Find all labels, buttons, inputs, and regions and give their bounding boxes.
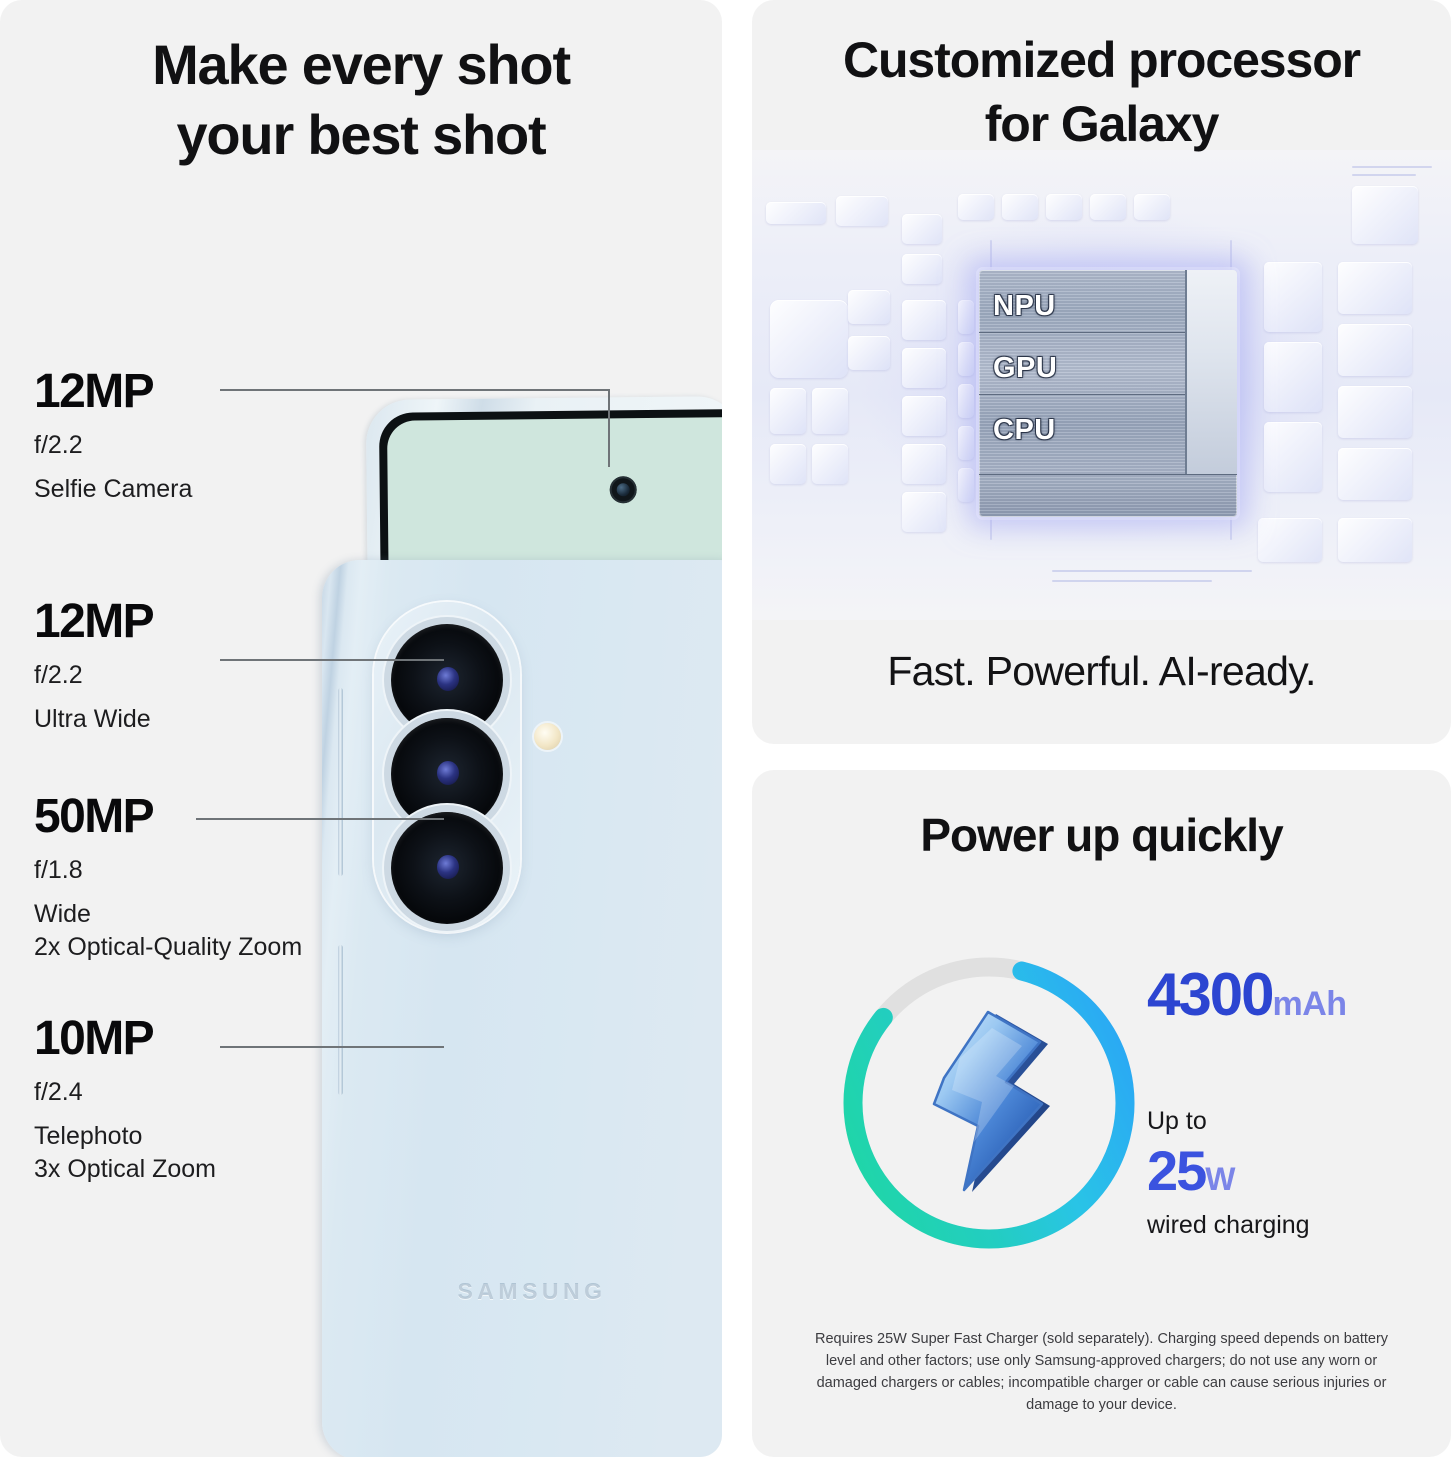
circuit-component-icon: [770, 300, 848, 378]
charging-disclaimer: Requires 25W Super Fast Charger (sold se…: [814, 1328, 1389, 1416]
battery-capacity: 4300mAh: [1147, 960, 1437, 1029]
spec-aperture: f/1.8: [34, 855, 302, 886]
spec-megapixels: 12MP: [34, 368, 192, 416]
wattage-value: 25: [1147, 1139, 1205, 1202]
circuit-component-icon: [902, 492, 946, 532]
circuit-pin-icon: [958, 426, 974, 460]
circuit-component-icon: [902, 214, 942, 244]
die-column-block: [1185, 270, 1237, 474]
circuit-pin-icon: [958, 384, 974, 418]
rear-camera-module: [374, 602, 520, 932]
camera-title-line2: your best shot: [0, 100, 722, 170]
circuit-pin-icon: [958, 300, 974, 334]
charging-wattage: 25W: [1147, 1138, 1437, 1203]
led-flash-icon: [534, 723, 561, 750]
processor-tagline: Fast. Powerful. AI-ready.: [752, 648, 1451, 695]
charge-ring-graphic: [834, 948, 1144, 1258]
die-label-gpu: GPU: [993, 352, 1057, 385]
circuit-pin-icon: [958, 468, 974, 502]
wattage-unit: W: [1205, 1161, 1235, 1197]
circuit-component-icon: [1090, 194, 1126, 220]
circuit-component-icon: [1338, 262, 1412, 314]
spec-selfie-camera: 12MP f/2.2 Selfie Camera: [34, 368, 192, 506]
circuit-component-icon: [812, 388, 848, 434]
die-divider: [979, 332, 1185, 333]
circuit-component-icon: [1264, 342, 1322, 412]
circuit-component-icon: [1264, 262, 1322, 332]
circuit-trace: [1052, 580, 1212, 582]
circuit-trace: [1352, 166, 1432, 168]
circuit-component-icon: [1002, 194, 1038, 220]
spec-megapixels: 12MP: [34, 598, 153, 646]
circuit-component-icon: [848, 290, 890, 324]
processor-panel: Customized processor for Galaxy: [752, 0, 1451, 744]
circuit-component-icon: [1338, 324, 1412, 376]
circuit-component-icon: [902, 396, 946, 436]
battery-capacity-value: 4300: [1147, 961, 1272, 1028]
spec-description: Telephoto 3x Optical Zoom: [34, 1120, 216, 1186]
charging-type-label: wired charging: [1147, 1211, 1437, 1240]
samsung-logo: SAMSUNG: [322, 1278, 722, 1305]
spec-description: Selfie Camera: [34, 473, 192, 506]
processor-title-line1: Customized processor: [752, 28, 1451, 92]
leader-line-ultrawide-h: [220, 659, 444, 661]
spec-description: Wide 2x Optical-Quality Zoom: [34, 898, 302, 964]
battery-stats: 4300mAh Up to 25W wired charging: [1147, 960, 1437, 1240]
circuit-component-icon: [958, 194, 994, 220]
spec-aperture: f/2.4: [34, 1077, 216, 1108]
up-to-label: Up to: [1147, 1107, 1437, 1136]
circuit-component-icon: [1264, 422, 1322, 492]
circuit-component-icon: [770, 444, 806, 484]
die-divider: [979, 474, 1237, 475]
circuit-component-icon: [812, 444, 848, 484]
telephoto-lens-icon: [391, 812, 503, 924]
spec-megapixels: 50MP: [34, 793, 302, 841]
circuit-component-icon: [902, 300, 946, 340]
circuit-component-icon: [902, 254, 942, 284]
spec-aperture: f/2.2: [34, 430, 192, 461]
leader-line-telephoto-h: [220, 1046, 444, 1048]
spec-description-line2: 3x Optical Zoom: [34, 1153, 216, 1186]
processor-title-line2: for Galaxy: [752, 92, 1451, 156]
spec-description-line1: Telephoto: [34, 1120, 216, 1153]
spec-description-line2: 2x Optical-Quality Zoom: [34, 931, 302, 964]
spec-description-line1: Wide: [34, 898, 302, 931]
battery-capacity-unit: mAh: [1272, 985, 1346, 1023]
circuit-trace: [1052, 570, 1252, 572]
circuit-component-icon: [1338, 448, 1412, 500]
circuit-component-icon: [766, 202, 826, 224]
product-feature-sheet: Make every shot your best shot: [0, 0, 1451, 1457]
spec-ultra-wide: 12MP f/2.2 Ultra Wide: [34, 598, 153, 736]
volume-button: [338, 688, 343, 876]
phone-back-view: SAMSUNG: [322, 560, 722, 1457]
camera-panel-title: Make every shot your best shot: [0, 30, 722, 170]
leader-line-selfie-h: [220, 389, 610, 391]
circuit-component-icon: [902, 348, 946, 388]
die-label-cpu: CPU: [993, 414, 1056, 447]
circuit-component-icon: [1352, 186, 1418, 244]
circuit-component-icon: [1134, 194, 1170, 220]
circuit-component-icon: [770, 388, 806, 434]
soc-die-graphic: NPU GPU CPU: [979, 270, 1237, 517]
circuit-component-icon: [902, 444, 946, 484]
spec-wide: 50MP f/1.8 Wide 2x Optical-Quality Zoom: [34, 793, 302, 964]
circuit-component-icon: [848, 336, 890, 370]
circuit-component-icon: [1338, 386, 1412, 438]
die-divider: [979, 394, 1185, 395]
camera-title-line1: Make every shot: [0, 30, 722, 100]
spec-aperture: f/2.2: [34, 660, 153, 691]
circuit-component-icon: [1338, 518, 1412, 562]
processor-panel-title: Customized processor for Galaxy: [752, 28, 1451, 156]
camera-panel: Make every shot your best shot: [0, 0, 722, 1457]
spec-telephoto: 10MP f/2.4 Telephoto 3x Optical Zoom: [34, 1015, 216, 1186]
circuit-trace: [1352, 174, 1416, 176]
lightning-bolt-icon: [922, 1010, 1058, 1196]
die-label-npu: NPU: [993, 290, 1056, 323]
circuit-board-graphic: NPU GPU CPU: [752, 150, 1451, 620]
leader-line-selfie-v: [608, 389, 610, 467]
battery-panel: Power up quickly: [752, 770, 1451, 1457]
circuit-pin-icon: [958, 342, 974, 376]
selfie-camera-icon: [610, 476, 637, 503]
power-button: [338, 945, 343, 1095]
spec-megapixels: 10MP: [34, 1015, 216, 1063]
circuit-component-icon: [836, 196, 888, 226]
spec-description: Ultra Wide: [34, 703, 153, 736]
battery-panel-title: Power up quickly: [752, 808, 1451, 862]
circuit-component-icon: [1046, 194, 1082, 220]
circuit-component-icon: [1258, 518, 1322, 562]
